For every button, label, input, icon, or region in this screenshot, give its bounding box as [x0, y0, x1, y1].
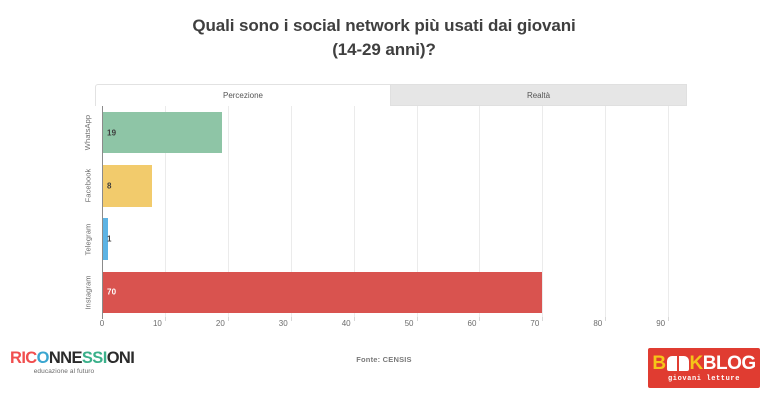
bar-instagram[interactable]: [102, 272, 542, 314]
bar-row: 70: [95, 272, 687, 314]
bar-row: 8: [95, 165, 687, 207]
bar-whatsapp[interactable]: [102, 112, 222, 154]
bookblog-wordmark: B K BLOG: [652, 354, 755, 373]
tab-realta-label: Realtà: [527, 91, 550, 100]
x-tick-label-0: 0: [100, 319, 104, 328]
ric-part-2: O: [37, 349, 49, 367]
open-book-icon: [667, 356, 689, 372]
riconnessioni-logo[interactable]: RICONNESSIONI educazione al futuro: [10, 349, 128, 381]
category-axis-labels: WhatsAppFacebookTelegramInstagram: [81, 106, 95, 319]
bookblog-tagline: giovani letture: [668, 375, 740, 383]
value-axis: 0102030405060708090: [95, 319, 687, 335]
x-tick-label-80: 80: [593, 319, 605, 328]
title-line-2: (14-29 anni)?: [0, 38, 768, 62]
category-label-instagram: Instagram: [81, 266, 95, 319]
bar-value-label-instagram: 70: [107, 288, 116, 297]
x-tick-label-10: 10: [153, 319, 165, 328]
x-tick-label-50: 50: [405, 319, 417, 328]
riconnessioni-wordmark: RICONNESSIONI: [10, 349, 128, 367]
bar-row: 1: [95, 218, 687, 260]
bar-series: 198170: [95, 106, 687, 319]
chart-plot-area: WhatsAppFacebookTelegramInstagram 198170: [95, 106, 687, 319]
bar-value-label-facebook: 8: [107, 181, 112, 190]
tab-bar: Percezione Realtà: [95, 84, 687, 106]
tab-percezione[interactable]: Percezione: [95, 84, 390, 106]
category-label-facebook: Facebook: [81, 159, 95, 212]
bar-value-label-telegram: 1: [107, 235, 112, 244]
tab-percezione-label: Percezione: [223, 91, 263, 100]
bookblog-letter-b: B: [652, 354, 665, 373]
riconnessioni-tagline: educazione al futuro: [10, 368, 118, 375]
x-tick-label-90: 90: [656, 319, 668, 328]
x-tick-label-70: 70: [530, 319, 542, 328]
bookblog-letter-k: K: [690, 354, 703, 373]
ric-part-1: RIC: [10, 349, 37, 367]
x-tick-label-40: 40: [342, 319, 354, 328]
category-label-telegram: Telegram: [81, 213, 95, 266]
bookblog-logo[interactable]: B K BLOG giovani letture: [648, 348, 760, 388]
ric-part-3: NNE: [49, 349, 82, 367]
chart-tabs-container: Percezione Realtà: [95, 84, 687, 106]
x-tick-label-30: 30: [279, 319, 291, 328]
x-tick-label-60: 60: [468, 319, 480, 328]
bookblog-word-blog: BLOG: [703, 354, 756, 373]
tab-realta[interactable]: Realtà: [390, 84, 687, 106]
x-tick-label-20: 20: [216, 319, 228, 328]
category-label-whatsapp: WhatsApp: [81, 106, 95, 159]
bar-value-label-whatsapp: 19: [107, 128, 116, 137]
y-axis-line: [102, 106, 103, 319]
ric-part-4: SSI: [82, 349, 107, 367]
bar-row: 19: [95, 112, 687, 154]
page-title: Quali sono i social network più usati da…: [0, 0, 768, 62]
ric-part-5: ONI: [107, 349, 135, 367]
title-line-1: Quali sono i social network più usati da…: [0, 14, 768, 38]
